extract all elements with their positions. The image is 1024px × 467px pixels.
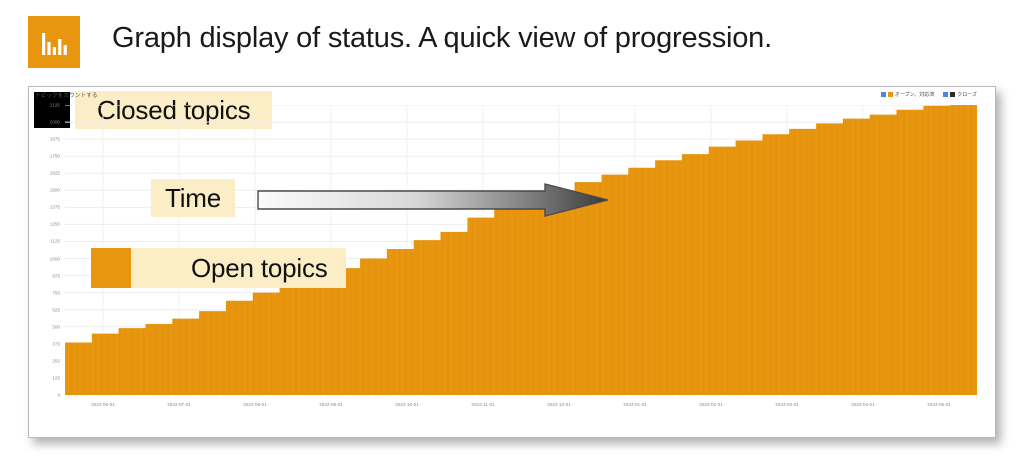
x-axis-tick: 2022-11-01 <box>471 402 494 407</box>
annotation-open-label: Open topics <box>191 253 328 284</box>
bar-chart-icon <box>28 16 80 68</box>
y-axis-tick: 1750 <box>50 154 60 159</box>
x-axis-tick: 2023-03-01 <box>775 402 799 407</box>
x-axis-tick: 2022-06-01 <box>91 402 115 407</box>
chart-legend: オープン、対応済 クローズ <box>881 91 977 98</box>
legend-swatch-orange <box>888 92 893 97</box>
legend-label-closed: クローズ <box>957 91 977 98</box>
x-axis-tick: 2023-04-01 <box>851 402 875 407</box>
right-arrow-icon <box>257 183 609 217</box>
y-axis-tick: 1250 <box>50 222 60 227</box>
chart-card: トピックをカウントする オープン、対応済 クローズ 01252503755006… <box>28 86 996 438</box>
x-axis-tick: 2023-05-01 <box>927 402 951 407</box>
x-axis-tick: 2023-02-01 <box>699 402 723 407</box>
annotation-time: Time <box>151 179 235 217</box>
x-axis-tick: 2022-07-01 <box>167 402 191 407</box>
legend-swatch-dark <box>950 92 955 97</box>
annotation-open-swatch <box>91 248 131 288</box>
y-axis-tick: 1875 <box>50 137 60 142</box>
y-axis-tick: 625 <box>52 307 60 312</box>
annotation-open-topics: Open topics <box>91 248 346 288</box>
legend-swatch-blue <box>881 92 886 97</box>
y-axis-tick: 1375 <box>50 205 60 210</box>
y-axis-tick: 250 <box>52 358 60 363</box>
y-axis-tick: 1125 <box>50 239 60 244</box>
legend-label-open: オープン、対応済 <box>895 91 934 98</box>
page-title: Graph display of status. A quick view of… <box>112 22 772 55</box>
x-axis-tick: 2022-10-01 <box>395 402 419 407</box>
legend-item-closed[interactable]: クローズ <box>943 91 977 98</box>
chart-subtitle: トピックをカウントする <box>35 91 98 99</box>
y-axis-tick: 875 <box>52 273 60 278</box>
x-axis: 2022-06-012022-07-012022-08-012022-09-01… <box>65 399 977 415</box>
legend-swatch-blue <box>943 92 948 97</box>
x-axis-tick: 2022-12-01 <box>547 402 571 407</box>
y-axis-tick: 2125 <box>50 103 60 108</box>
x-axis-tick: 2022-09-01 <box>319 402 343 407</box>
y-axis-tick: 1000 <box>50 256 60 261</box>
legend-item-open[interactable]: オープン、対応済 <box>881 91 934 98</box>
y-axis-tick: 0 <box>57 393 60 398</box>
y-axis-tick: 1625 <box>50 171 60 176</box>
y-axis-tick: 375 <box>52 341 60 346</box>
y-axis-tick: 125 <box>52 375 60 380</box>
y-axis-tick: 500 <box>52 324 60 329</box>
y-axis: 0125250375500625750875100011251250137515… <box>29 105 63 395</box>
y-axis-tick: 750 <box>52 290 60 295</box>
page-header: Graph display of status. A quick view of… <box>0 0 1024 86</box>
x-axis-tick: 2023-01-01 <box>623 402 647 407</box>
y-axis-tick: 1500 <box>50 188 60 193</box>
annotation-open-label-box: Open topics <box>131 248 346 288</box>
y-axis-tick: 2000 <box>50 120 60 125</box>
annotation-time-label: Time <box>165 183 221 214</box>
x-axis-tick: 2022-08-01 <box>243 402 267 407</box>
